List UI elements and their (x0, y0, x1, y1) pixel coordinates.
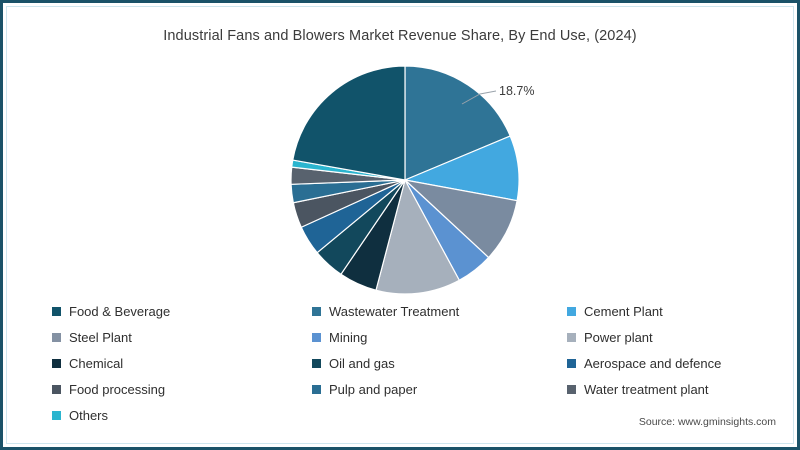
pie-chart-svg (290, 65, 520, 295)
legend-item[interactable]: Water treatment plant (567, 383, 752, 396)
pie-slice-group (291, 66, 519, 294)
chart-canvas: Industrial Fans and Blowers Market Reven… (0, 0, 800, 450)
legend-swatch-icon (567, 333, 576, 342)
chart-title: Industrial Fans and Blowers Market Reven… (0, 28, 800, 44)
chart-legend: Food & BeverageWastewater TreatmentCemen… (52, 298, 752, 428)
legend-item[interactable]: Food & Beverage (52, 305, 312, 318)
legend-item[interactable]: Steel Plant (52, 331, 312, 344)
source-note: Source: www.gminsights.com (639, 416, 776, 428)
legend-item[interactable]: Food processing (52, 383, 312, 396)
legend-swatch-icon (567, 385, 576, 394)
legend-item[interactable]: Mining (312, 331, 567, 344)
legend-item[interactable]: Wastewater Treatment (312, 305, 567, 318)
legend-swatch-icon (567, 307, 576, 316)
legend-item[interactable]: Aerospace and defence (567, 357, 752, 370)
legend-item[interactable]: Cement Plant (567, 305, 752, 318)
legend-swatch-icon (312, 307, 321, 316)
legend-item-label: Oil and gas (329, 357, 395, 370)
legend-item-label: Steel Plant (69, 331, 132, 344)
legend-item-label: Aerospace and defence (584, 357, 721, 370)
legend-item-label: Food & Beverage (69, 305, 170, 318)
legend-item-label: Chemical (69, 357, 123, 370)
pie-slice[interactable] (293, 66, 405, 180)
legend-item[interactable]: Chemical (52, 357, 312, 370)
legend-item-label: Cement Plant (584, 305, 663, 318)
legend-swatch-icon (52, 385, 61, 394)
legend-item-label: Others (69, 409, 108, 422)
legend-swatch-icon (312, 333, 321, 342)
legend-item[interactable]: Power plant (567, 331, 752, 344)
legend-swatch-icon (567, 359, 576, 368)
legend-item[interactable]: Oil and gas (312, 357, 567, 370)
pie-chart (290, 65, 520, 295)
legend-swatch-icon (52, 411, 61, 420)
legend-item-label: Power plant (584, 331, 653, 344)
legend-swatch-icon (312, 385, 321, 394)
legend-swatch-icon (312, 359, 321, 368)
legend-item-label: Food processing (69, 383, 165, 396)
legend-swatch-icon (52, 359, 61, 368)
slice-percent-label: 18.7% (499, 84, 534, 98)
legend-item-label: Water treatment plant (584, 383, 709, 396)
legend-swatch-icon (52, 307, 61, 316)
legend-item-label: Mining (329, 331, 367, 344)
legend-item-label: Wastewater Treatment (329, 305, 459, 318)
legend-item[interactable]: Pulp and paper (312, 383, 567, 396)
legend-item-label: Pulp and paper (329, 383, 417, 396)
legend-item[interactable]: Others (52, 409, 312, 422)
legend-swatch-icon (52, 333, 61, 342)
